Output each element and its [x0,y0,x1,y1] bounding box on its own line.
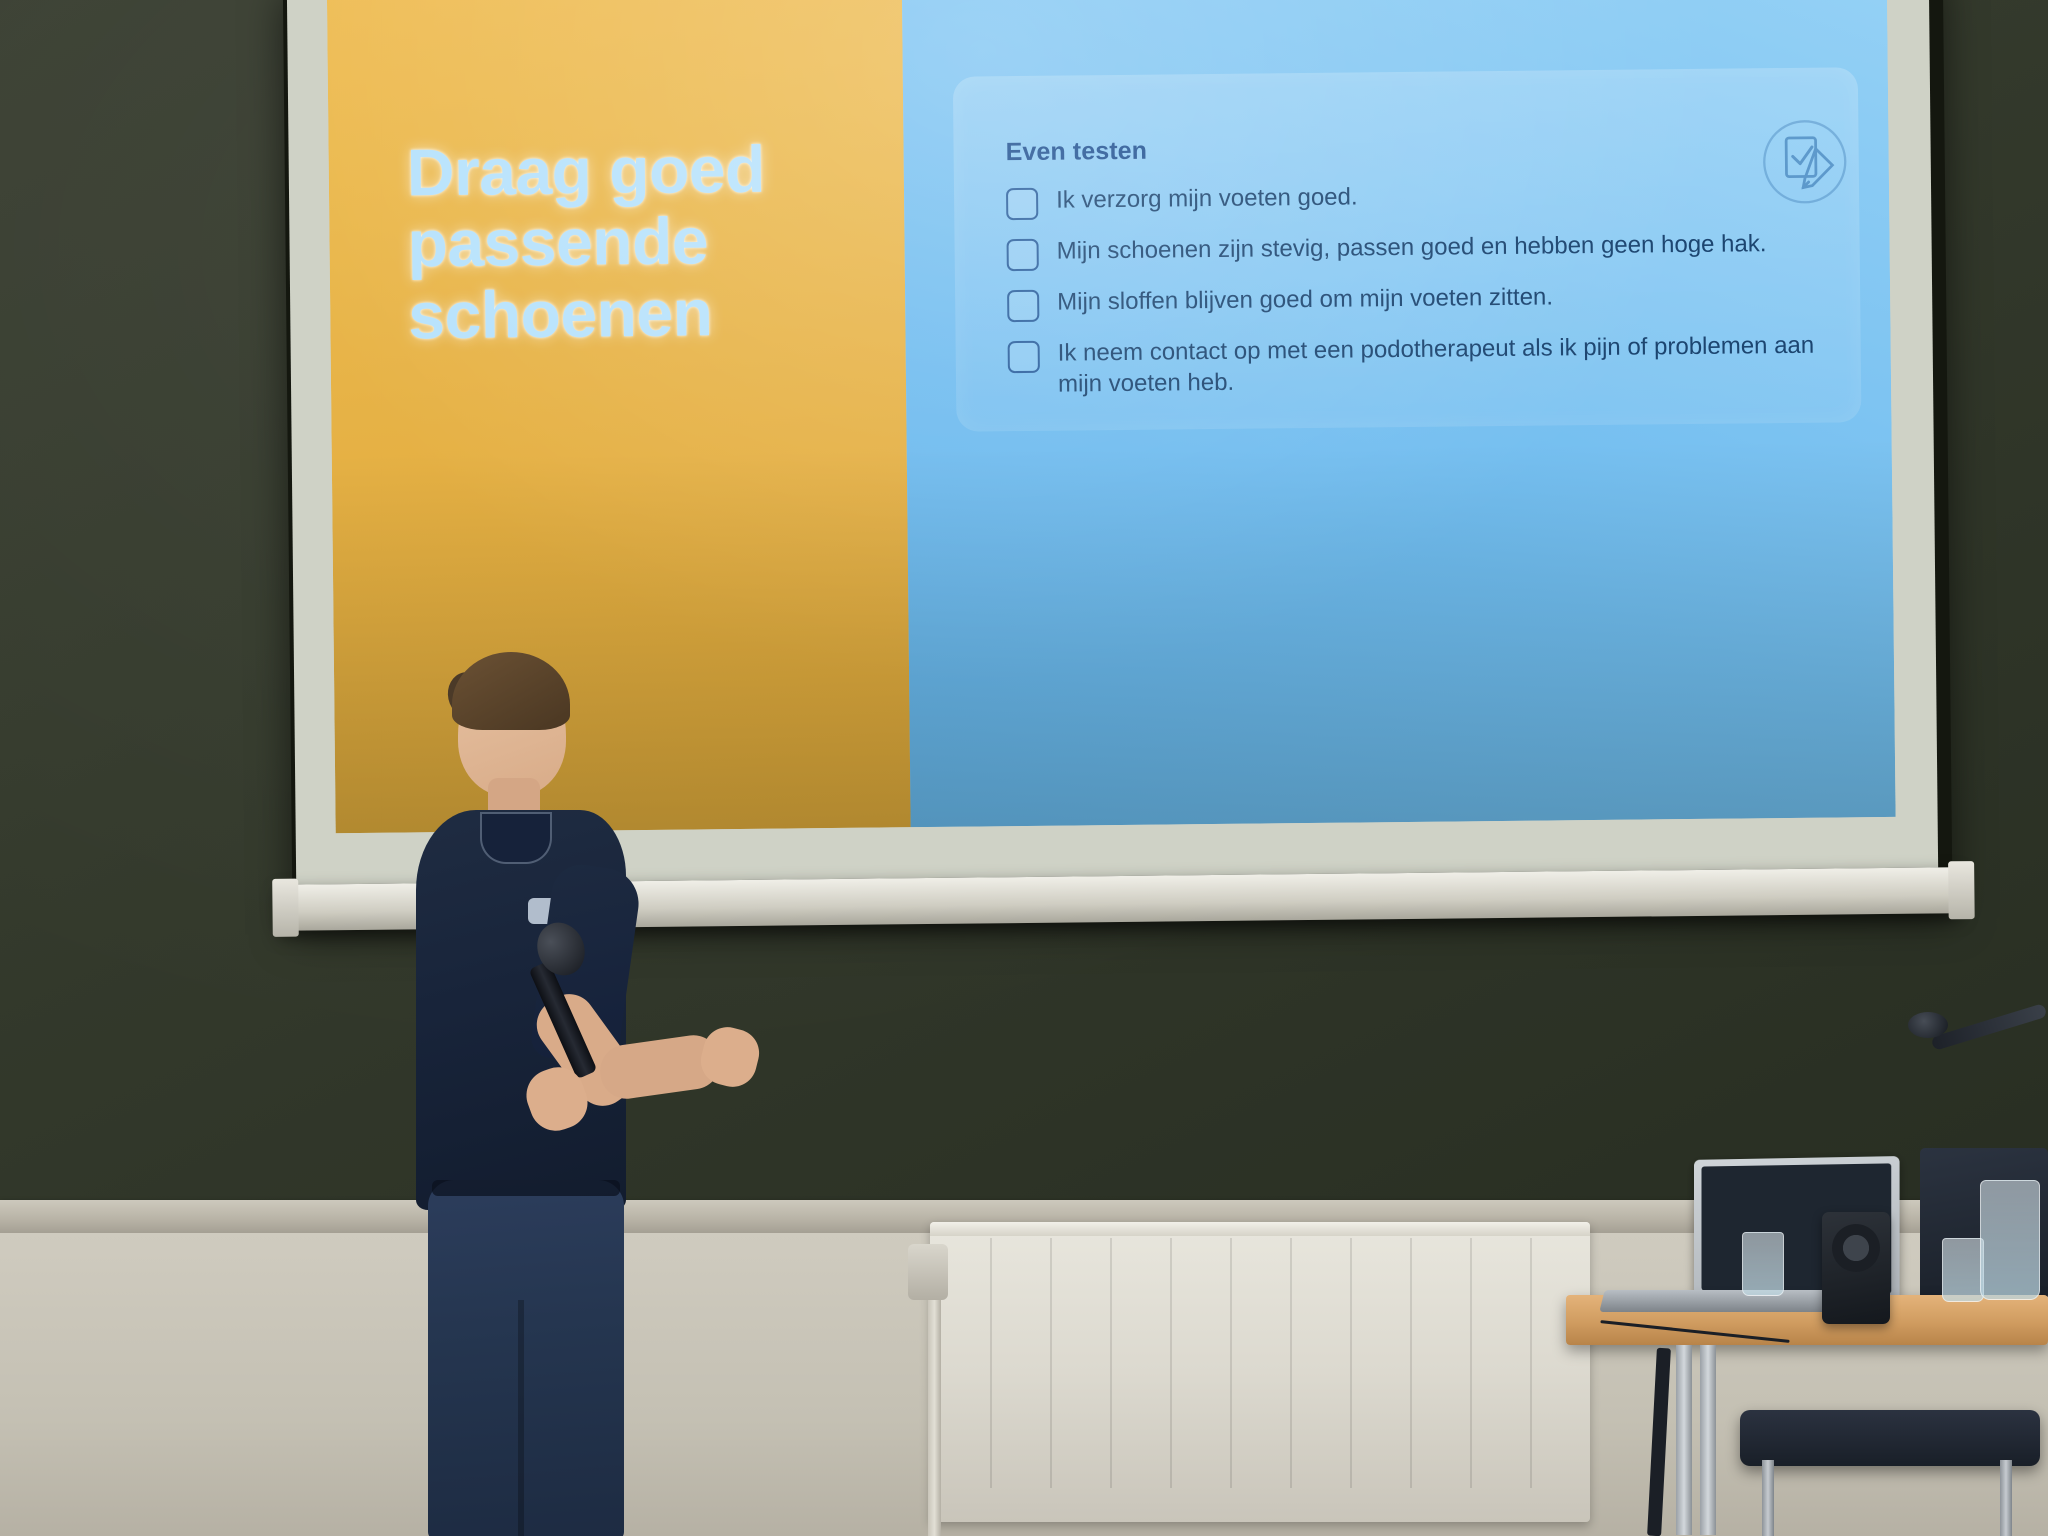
presenter-hair [452,652,570,730]
checklist-item[interactable]: Ik verzorg mijn voeten goed. [1006,177,1836,220]
radiator-pipe [928,1300,941,1536]
checkbox-icon[interactable] [1006,188,1038,220]
water-carafe[interactable] [1980,1180,2040,1300]
water-glass[interactable] [1742,1232,1784,1296]
slide-title-line-1: Draag goed [406,133,877,209]
presenter-collar [480,812,552,864]
checklist-item-label: Ik neem contact op met een podotherapeut… [1058,330,1839,400]
presenter-waistband [432,1180,620,1196]
speaker-grill-icon [1832,1224,1880,1272]
radiator-top-grill [930,1222,1590,1236]
checklist-item-label: Mijn sloffen blijven goed om mijn voeten… [1057,282,1553,318]
slide-title-line-3: schoenen [408,275,879,351]
checklist-heading: Even testen [1005,137,1147,167]
desk-leg [1700,1345,1716,1535]
chair-leg [2000,1460,2012,1536]
screen-endcap-left [272,879,299,937]
chair-seat[interactable] [1740,1410,2040,1466]
checklist-item-label: Mijn schoenen zijn stevig, passen goed e… [1057,229,1767,267]
laptop-keyboard-base[interactable] [1599,1290,1854,1312]
radiator-valve[interactable] [908,1244,948,1300]
bluetooth-speaker[interactable] [1822,1212,1890,1324]
checklist-item-label: Ik verzorg mijn voeten goed. [1056,182,1358,216]
photo-scene: Draag goed passende schoenen [0,0,2048,1536]
presenter [410,660,710,1536]
water-glass[interactable] [1942,1238,1984,1302]
presenter-jeans [428,1180,624,1536]
checkbox-icon[interactable] [1007,239,1039,271]
desk-leg [1676,1345,1692,1535]
checklist-card: Even testen Ik verzorg mijn voeten goed.… [953,67,1862,431]
chair-leg [1762,1460,1774,1536]
checklist-item[interactable]: Ik neem contact op met een podotherapeut… [1008,330,1839,400]
microphone-capsule-icon [1908,1012,1948,1038]
checklist: Ik verzorg mijn voeten goed. Mijn schoen… [1006,177,1838,417]
slide-title: Draag goed passende schoenen [406,133,878,352]
checklist-item[interactable]: Mijn schoenen zijn stevig, passen goed e… [1007,228,1837,271]
checkbox-icon[interactable] [1008,341,1040,373]
checklist-item[interactable]: Mijn sloffen blijven goed om mijn voeten… [1007,279,1837,322]
checkbox-icon[interactable] [1007,290,1039,322]
radiator [930,1222,1590,1522]
presenter-leg-seam [518,1300,524,1536]
screen-endcap-right [1948,861,1975,919]
slide-title-line-2: passende [407,204,878,280]
